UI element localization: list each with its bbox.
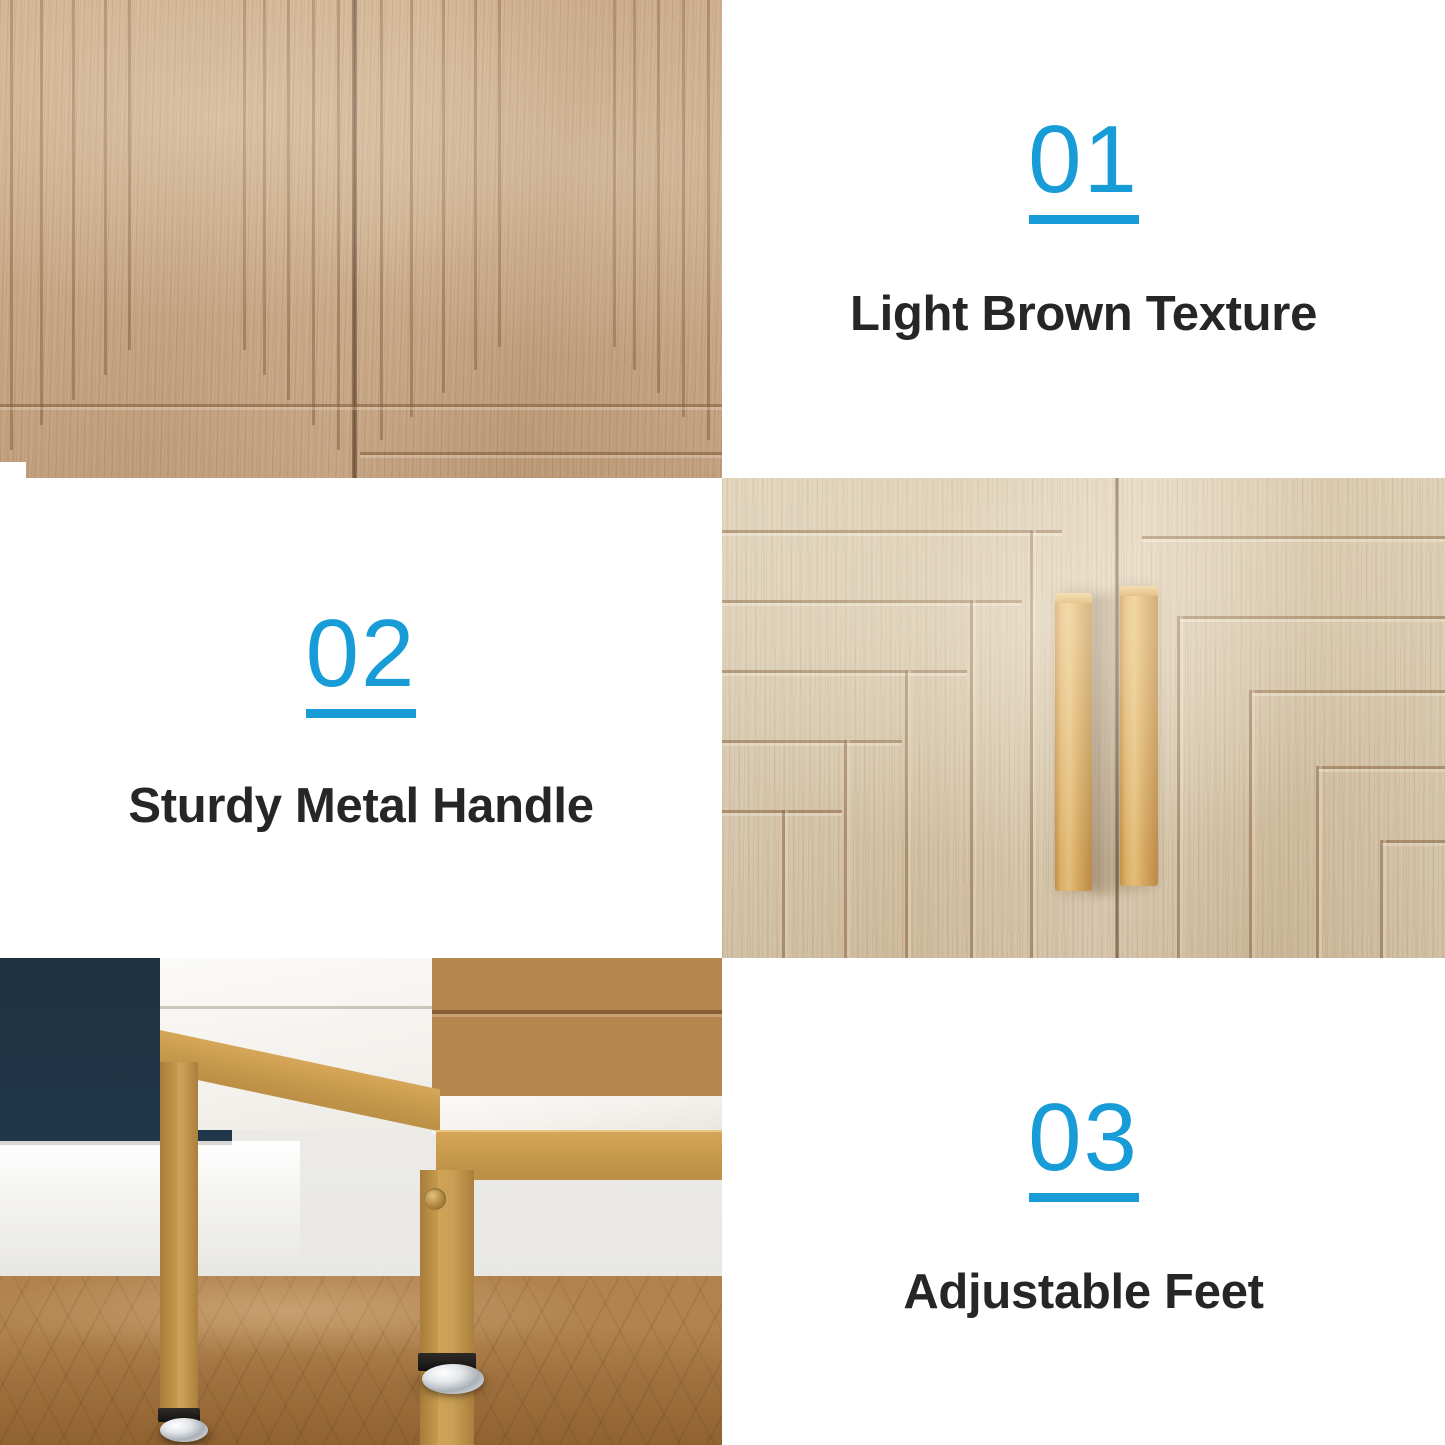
baseboard	[0, 1141, 300, 1286]
feature-number-block-02: 02	[306, 606, 417, 718]
floor-gloss	[0, 1276, 722, 1445]
feature-number-block-03: 03	[1028, 1090, 1139, 1202]
cabinet-wood-groove	[432, 1010, 722, 1014]
feature-caption-02: Sturdy Metal Handle	[128, 778, 593, 834]
photo-adjustable-feet	[0, 958, 722, 1445]
feature-caption-03: Adjustable Feet	[903, 1264, 1263, 1320]
herringbone-floor	[0, 1276, 722, 1445]
feature-number-underline-01	[1029, 215, 1139, 224]
feature-text-03: 03 Adjustable Feet	[722, 958, 1445, 1445]
feature-number-01: 01	[1028, 112, 1139, 208]
gold-frame-rail-side	[436, 1130, 722, 1180]
oak-sheen-overlay	[722, 478, 1445, 958]
leg-left-face	[420, 1170, 438, 1445]
feature-number-underline-03	[1029, 1193, 1139, 1202]
feature-number-underline-02	[306, 709, 416, 718]
photo-sturdy-metal-handle	[722, 478, 1445, 958]
feature-number-block-01: 01	[1028, 112, 1139, 224]
feature-text-01: 01 Light Brown Texture	[722, 0, 1445, 478]
adjustable-foot-back[interactable]	[160, 1418, 208, 1442]
feature-number-02: 02	[306, 606, 417, 702]
adjustable-foot-front[interactable]	[422, 1364, 484, 1394]
gold-rail-highlight	[436, 1130, 722, 1132]
leg-screw	[424, 1188, 446, 1210]
photo-corner-cut	[0, 462, 26, 478]
feature-number-03: 03	[1028, 1090, 1139, 1186]
cabinet-bottom-band	[432, 1096, 722, 1134]
wood-sheen-overlay	[0, 0, 722, 478]
feature-grid-board: 01 Light Brown Texture 02 Sturdy Metal H…	[0, 0, 1445, 1445]
room-scene	[0, 958, 722, 1445]
cabinet-leg-front	[420, 1170, 474, 1445]
feature-text-02: 02 Sturdy Metal Handle	[0, 478, 722, 958]
cabinet-wood-door	[432, 958, 722, 1096]
cabinet-panel-seam	[160, 1006, 445, 1009]
photo-light-brown-texture	[0, 0, 722, 478]
leg-left-face	[160, 1062, 178, 1412]
feature-caption-01: Light Brown Texture	[850, 286, 1317, 342]
cabinet-leg-back	[160, 1062, 198, 1412]
